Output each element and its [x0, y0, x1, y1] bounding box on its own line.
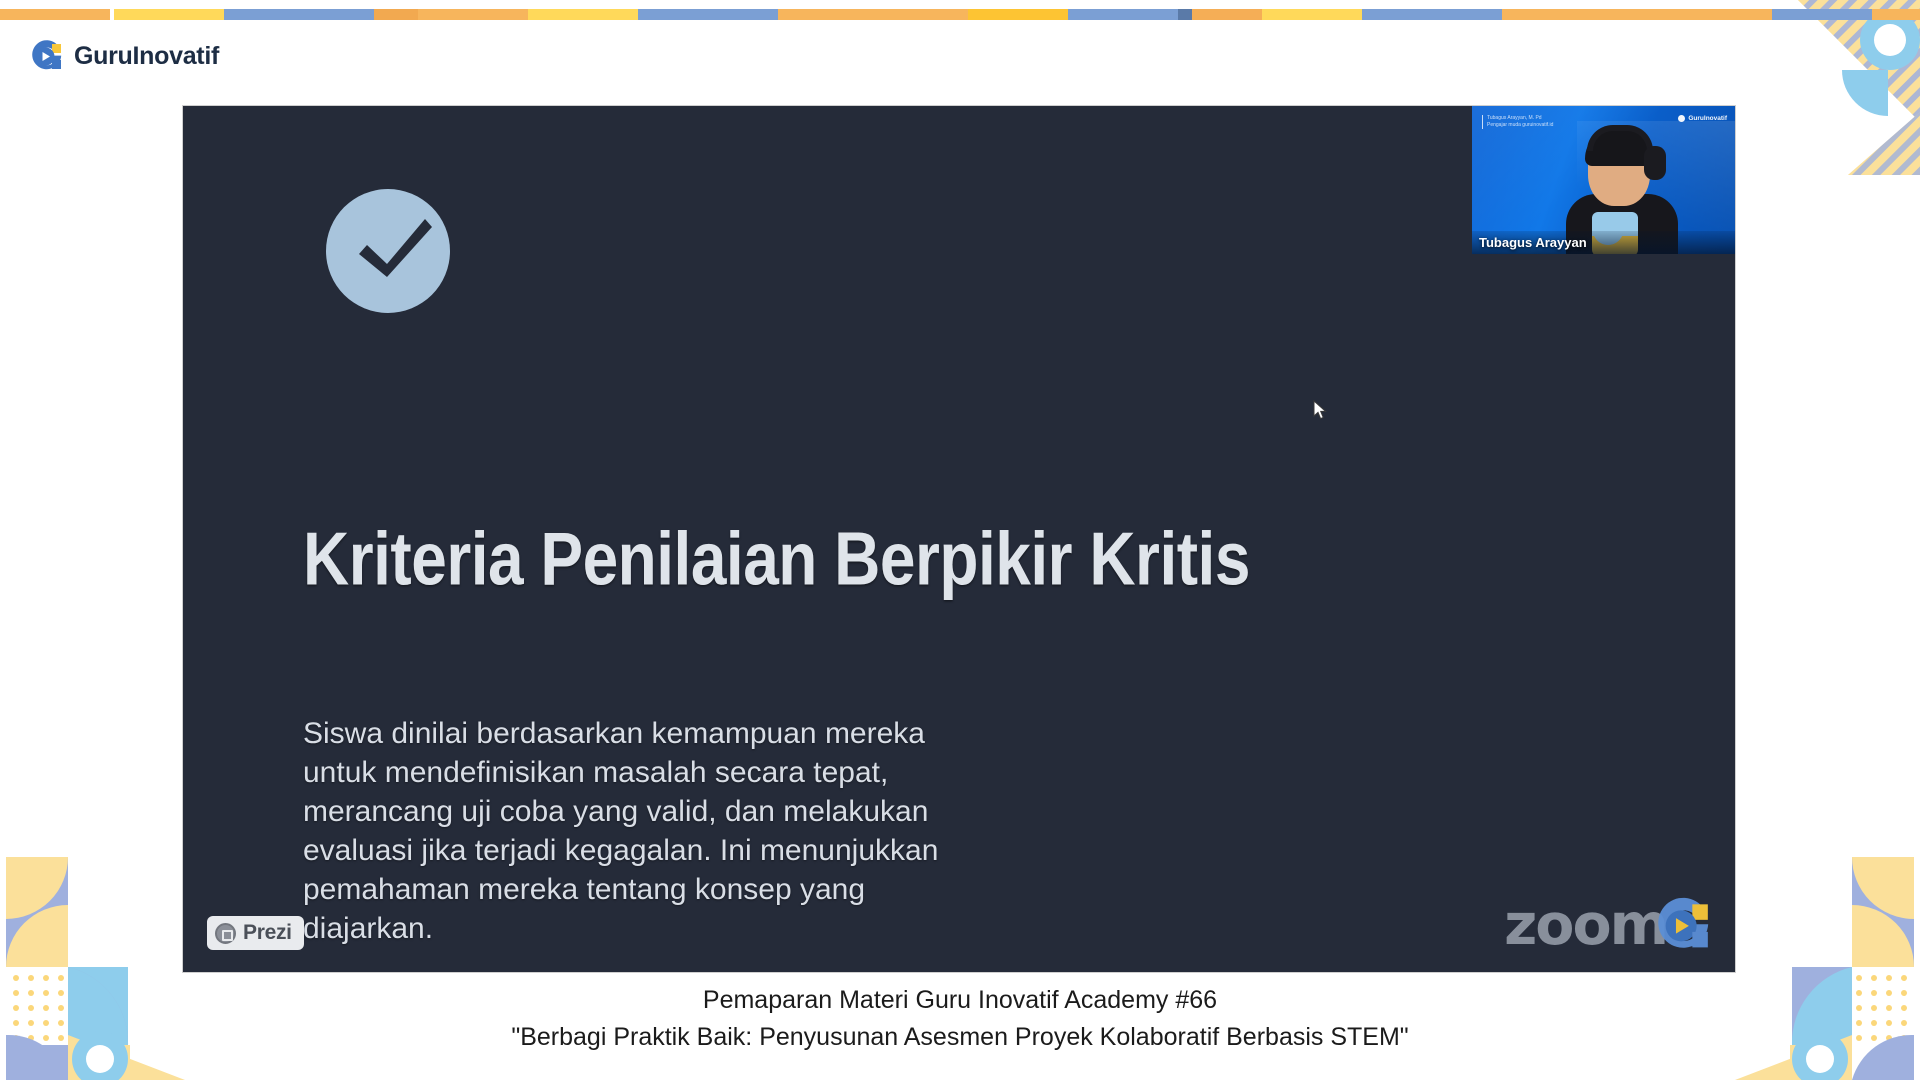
stripe-segment-8: [778, 9, 968, 20]
stripe-segment-13: [1262, 9, 1362, 20]
decoration-top-right: [1730, 0, 1920, 175]
caption-line-1: Pemaparan Materi Guru Inovatif Academy #…: [0, 982, 1920, 1019]
stripe-segment-16: [1772, 9, 1872, 20]
guruinovatif-logo-icon: [1678, 115, 1685, 122]
stripe-segment-5: [418, 9, 528, 20]
stripe-segment-9: [968, 9, 1068, 20]
stripe-segment-6: [528, 9, 638, 20]
stripe-segment-14: [1362, 9, 1502, 20]
brand-name: GuruInovatif: [74, 42, 219, 71]
bottom-caption: Pemaparan Materi Guru Inovatif Academy #…: [0, 982, 1920, 1056]
check-circle-icon: [321, 184, 455, 318]
stripe-segment-7: [638, 9, 778, 20]
webcam-lower-third-title: Tubagus Arayyan, M. Pd Pengajar muda gur…: [1482, 115, 1553, 129]
prezi-badge[interactable]: Prezi: [207, 916, 304, 950]
prezi-seal-icon: [215, 923, 236, 944]
stripe-segment-11: [1178, 9, 1192, 20]
slide-title: Kriteria Penilaian Berpikir Kritis: [303, 521, 1250, 597]
zoom-wordmark: zoom: [1504, 892, 1667, 958]
stripe-segment-10: [1068, 9, 1178, 20]
stripe-segment-3: [224, 9, 374, 20]
stripe-segment-0: [0, 9, 110, 20]
webcam-participant-name: Tubagus Arayyan: [1479, 235, 1587, 250]
webcam-brand-watermark: GuruInovatif: [1678, 115, 1727, 122]
slide-body-text: Siswa dinilai berdasarkan kemampuan mere…: [303, 714, 963, 948]
stripe-segment-4: [374, 9, 418, 20]
top-stripe-bar: [0, 9, 1920, 20]
presentation-slide[interactable]: Kriteria Penilaian Berpikir Kritis Siswa…: [183, 106, 1735, 972]
stripe-segment-2: [114, 9, 224, 20]
guruinovatif-logo-icon: [28, 38, 64, 74]
stripe-segment-17: [1872, 9, 1920, 20]
brand-header: GuruInovatif: [28, 38, 219, 74]
stripe-segment-15: [1502, 9, 1772, 20]
stripe-segment-12: [1192, 9, 1262, 20]
caption-line-2: "Berbagi Praktik Baik: Penyusunan Asesme…: [0, 1019, 1920, 1056]
webcam-thumbnail[interactable]: Tubagus Arayyan, M. Pd Pengajar muda gur…: [1472, 106, 1735, 254]
mouse-pointer-icon: [1313, 400, 1327, 420]
prezi-label: Prezi: [243, 921, 292, 945]
guruinovatif-logo-icon: [1651, 894, 1713, 956]
zoom-watermark: zoom: [1504, 892, 1713, 958]
